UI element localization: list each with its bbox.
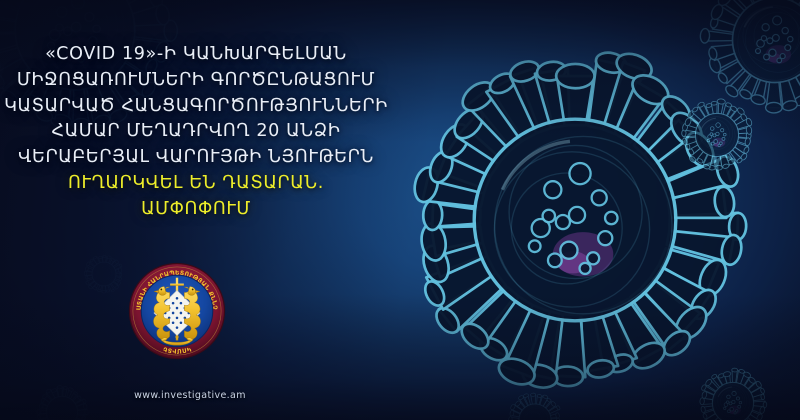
investigative-committee-emblem: ՀԱՅԱՍՏԱՆԻ ՀԱՆՐԱՊԵՏՈՒԹՅԱՆ ՔՆՆՉԱԿԱՆ ԿՈՄԻՏԵ xyxy=(128,262,226,360)
headline-line-7: ԱՄՓՈՓՈՒՄ xyxy=(0,197,392,223)
headline-line-4: ՀԱՄԱՐ ՄԵՂԱԴՐՎՈՂ 20 ԱՆՁԻ xyxy=(0,119,392,145)
headline-line-2: ՄԻՋՈՑԱՌՈՒՄՆԵՐԻ ԳՈՐԾԸՆԹԱՑՈՒՄ xyxy=(0,68,392,94)
headline-line-5: ՎԵՐԱԲԵՐՅԱԼ ՎԱՐՈՒՅԹԻ ՆՅՈՒԹԵՐՆ xyxy=(0,145,392,171)
headline-line-3: ԿԱՏԱՐՎԱԾ ՀԱՆՑԱԳՈՐԾՈՒԹՅՈՒՆՆԵՐԻ xyxy=(0,94,392,120)
headline-block: «COVID 19»-Ի ԿԱՆԽԱՐԳԵԼՄԱՆ ՄԻՋՈՑԱՌՈՒՄՆԵՐԻ… xyxy=(0,42,392,223)
covid-announcement-poster: «COVID 19»-Ի ԿԱՆԽԱՐԳԵԼՄԱՆ ՄԻՋՈՑԱՌՈՒՄՆԵՐԻ… xyxy=(0,0,800,420)
headline-line-6: ՈՒՂԱՐԿՎԵԼ ԵՆ ԴԱՏԱՐԱՆ. xyxy=(0,171,392,197)
headline-line-1: «COVID 19»-Ի ԿԱՆԽԱՐԳԵԼՄԱՆ xyxy=(0,42,392,68)
website-url: www.investigative.am xyxy=(0,390,380,401)
